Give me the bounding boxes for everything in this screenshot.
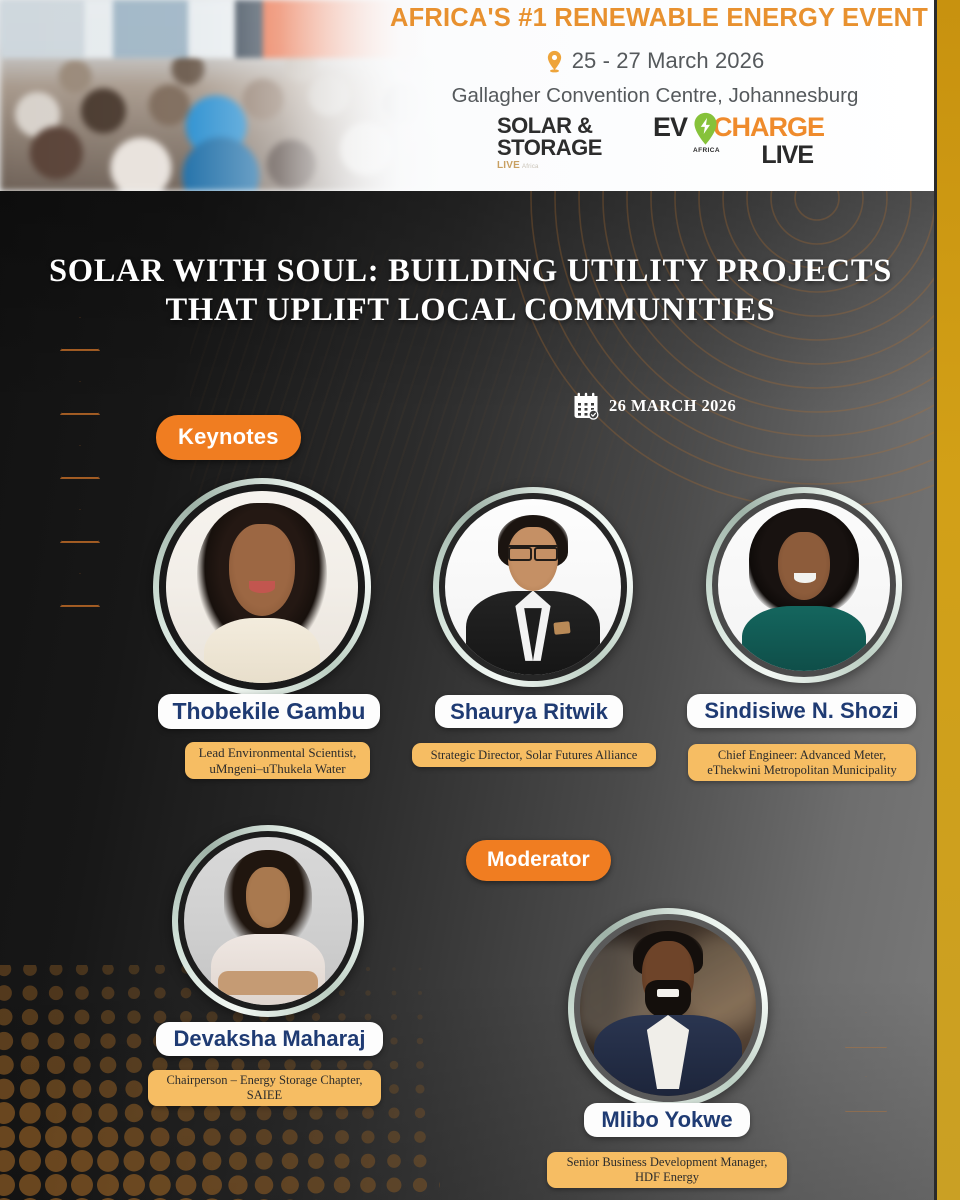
speaker-card-devaksha-maharaj	[172, 825, 364, 1017]
ev-word: EV	[653, 114, 687, 141]
header-tagline: AFRICA'S #1 RENEWABLE ENERGY EVENT	[390, 4, 920, 33]
solar-storage-live-logo: SOLAR & STORAGE LIVEAfrica	[497, 115, 617, 172]
right-gold-bar	[937, 0, 960, 1200]
speaker-card-shaurya-ritwik	[433, 487, 633, 687]
right-triangles-decoration	[845, 1012, 887, 1140]
speaker-role-badge: Lead Environmental Scientist, uMngeni–uT…	[185, 742, 370, 779]
speaker-card-sindisiwe-shozi	[706, 487, 902, 683]
moderator-badge: Moderator	[466, 840, 611, 881]
triangle-icon	[845, 1012, 887, 1048]
logo-line-2: STORAGE	[497, 137, 617, 159]
session-date: 26 MARCH 2026	[609, 396, 736, 416]
calendar-check-icon	[573, 392, 599, 420]
page-title: SOLAR WITH SOUL: BUILDING UTILITY PROJEC…	[48, 252, 893, 330]
evcharge-live-logo: EV CHARGE AFRICA LIVE	[653, 114, 813, 172]
header-date: 25 - 27 March 2026	[572, 48, 765, 74]
header-venue: Gallagher Convention Centre, Johannesbur…	[390, 84, 920, 108]
charge-word: CHARGE	[713, 114, 824, 141]
moderator-nameplate: Mlibo Yokwe	[584, 1103, 750, 1137]
speaker-role-badge: Strategic Director, Solar Futures Allian…	[412, 743, 656, 767]
avatar	[153, 478, 371, 696]
speaker-nameplate: Thobekile Gambu	[158, 694, 380, 729]
avatar	[172, 825, 364, 1017]
header-banner: AFRICA'S #1 RENEWABLE ENERGY EVENT 25 - …	[0, 0, 937, 191]
speaker-role-badge: Chairperson – Energy Storage Chapter, SA…	[148, 1070, 381, 1106]
keynotes-badge: Keynotes	[156, 415, 301, 460]
session-date-row: 26 MARCH 2026	[573, 392, 736, 420]
left-triangles-decoration	[60, 317, 100, 637]
ev-pin-icon	[692, 112, 719, 148]
triangle-icon	[60, 381, 100, 415]
triangle-icon	[60, 445, 100, 479]
header-logos: SOLAR & STORAGE LIVEAfrica EV CHARGE AFR…	[390, 114, 920, 172]
ev-live-word: LIVE	[761, 143, 813, 168]
triangle-icon	[60, 509, 100, 543]
speaker-card-thobekile-gambu	[153, 478, 371, 696]
event-poster: AFRICA'S #1 RENEWABLE ENERGY EVENT 25 - …	[0, 0, 960, 1200]
moderator-role-badge: Senior Business Development Manager, HDF…	[547, 1152, 787, 1188]
speaker-role-badge: Chief Engineer: Advanced Meter, eThekwin…	[688, 744, 916, 781]
speaker-nameplate: Devaksha Maharaj	[156, 1022, 383, 1056]
ev-pin-label: AFRICA	[693, 147, 720, 154]
avatar	[706, 487, 902, 683]
triangle-icon	[845, 1076, 887, 1112]
logo-line-3: LIVE	[497, 160, 520, 171]
triangle-icon	[60, 573, 100, 607]
avatar	[568, 908, 768, 1108]
logo-line-1: SOLAR &	[497, 115, 617, 137]
map-pin-icon	[546, 50, 563, 73]
speaker-card-mlibo-yokwe	[568, 908, 768, 1108]
speaker-nameplate: Shaurya Ritwik	[435, 695, 623, 728]
avatar	[433, 487, 633, 687]
header-date-row: 25 - 27 March 2026	[390, 48, 920, 74]
logo-line-3-sub: Africa	[522, 164, 539, 170]
speaker-nameplate: Sindisiwe N. Shozi	[687, 694, 916, 728]
